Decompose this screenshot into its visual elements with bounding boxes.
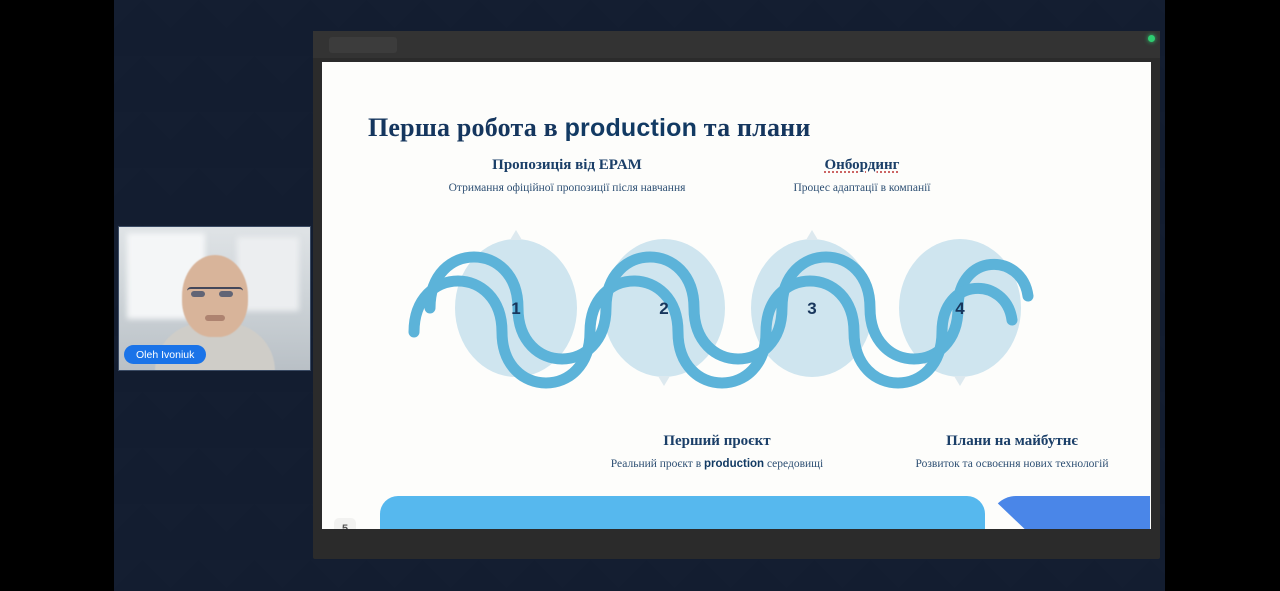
shared-screen-window[interactable]: 5 Перша робота в production та плани Про… [313,31,1160,559]
step-subtitle-2-part2: середовищі [764,458,823,470]
marker-up-1 [510,230,522,240]
glasses-icon [187,287,243,301]
step-subtitle-4: Розвиток та освоєння нових технологій [817,458,1151,470]
diagram-svg: 1 2 3 4 [322,222,1151,422]
slide-title-part2: та плани [697,113,810,142]
participant-name-badge: Oleh Ivoniuk [124,345,206,364]
marker-down-2 [658,376,670,386]
step-subtitle-2-part1: Реальний проєкт в [611,458,704,470]
slide-number-badge: 5 [334,518,356,529]
step-heading-4: Плани на майбутнє [817,433,1151,450]
letterbox-right [1165,0,1280,591]
step-number-3: 3 [807,299,816,318]
presentation-slide: 5 Перша робота в production та плани Про… [322,62,1151,529]
slide-title-bold: production [565,114,698,142]
decorative-wedge-dark [990,496,1150,529]
letterbox-left [0,0,114,591]
step-subtitle-2-bold: production [704,458,764,470]
marker-up-3 [806,230,818,240]
step-number-2: 2 [659,299,668,318]
step-label-4: Плани на майбутнє Розвиток та освоєння н… [817,433,1151,470]
screen: 5 Перша робота в production та плани Про… [0,0,1280,591]
shared-window-titlebar [313,31,1160,58]
step-subtitle-3: Процес адаптації в компанії [667,182,1057,194]
step-heading-3: Онбординг [667,157,1057,174]
process-diagram: 1 2 3 4 [322,222,1151,422]
recording-indicator-icon [1148,35,1155,42]
step-number-4: 4 [955,299,965,318]
slide-title: Перша робота в production та плани [368,113,1108,143]
participant-video-tile[interactable]: Oleh Ivoniuk [118,226,311,371]
shared-window-tab[interactable] [329,37,397,53]
step-label-3: Онбординг Процес адаптації в компанії [667,157,1057,194]
decorative-bar-light [380,496,985,529]
marker-down-4 [954,376,966,386]
participant-mouth [205,315,225,321]
step-number-1: 1 [511,299,520,318]
step-numbers: 1 2 3 4 [511,299,965,318]
slide-title-part1: Перша робота в [368,113,565,142]
